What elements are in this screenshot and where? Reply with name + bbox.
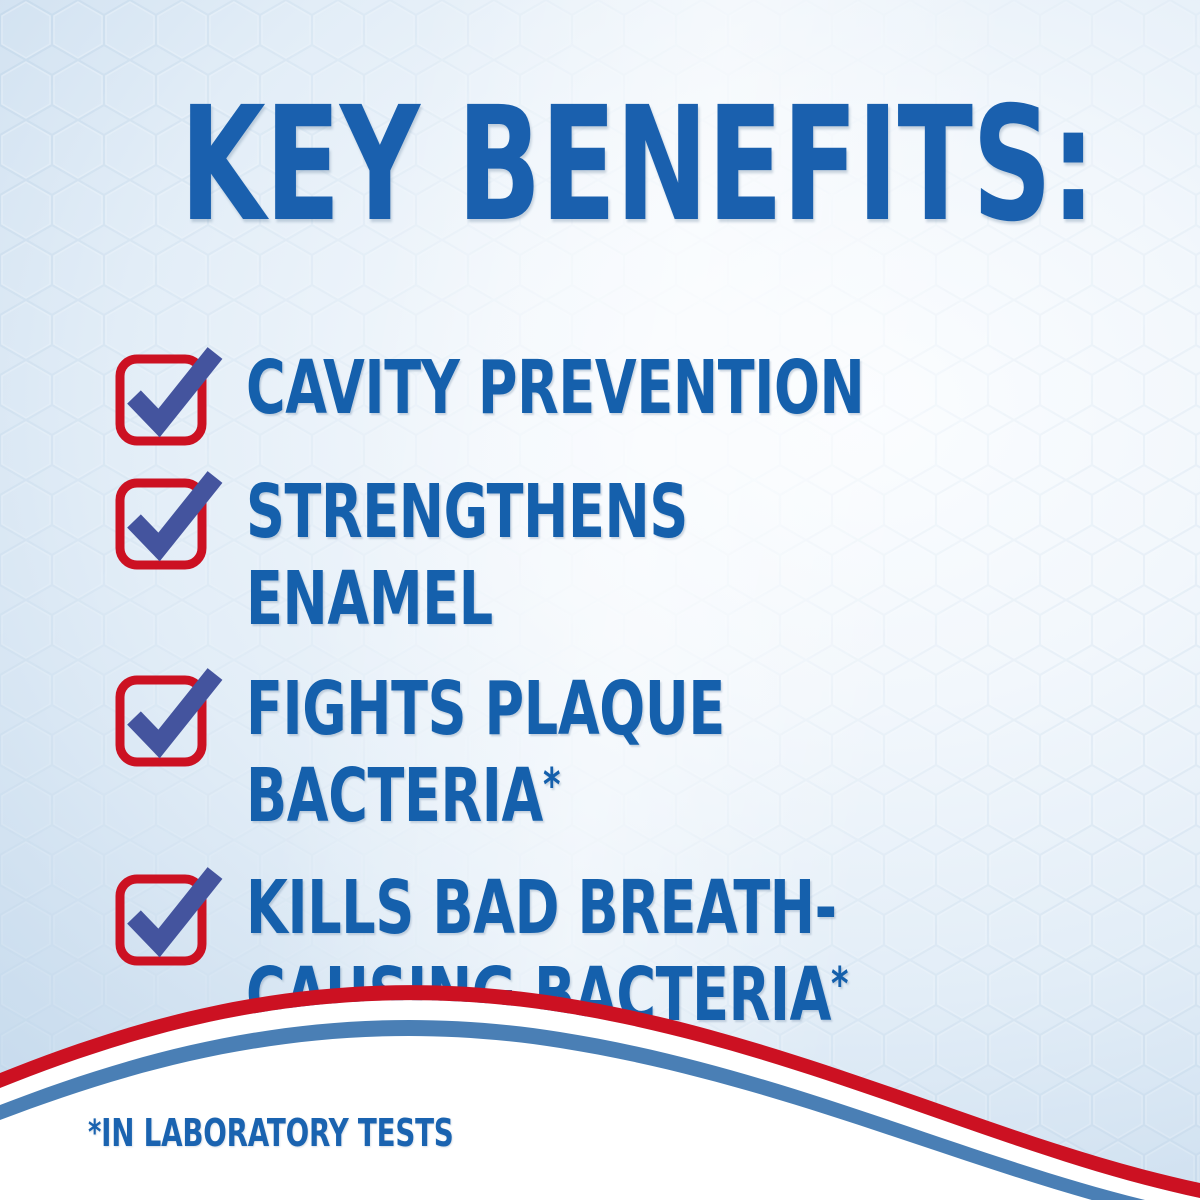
footnote: *IN LABORATORY TESTS [88, 1114, 454, 1152]
asterisk-marker: * [88, 1113, 101, 1153]
poster-content: KEY BENEFITS: CAVITY PREVENTION [0, 0, 1200, 1200]
key-benefits-poster: KEY BENEFITS: CAVITY PREVENTION [0, 0, 1200, 1200]
benefit-label: FIGHTS PLAQUE BACTERIA* [246, 666, 922, 839]
wave-divider [0, 940, 1200, 1200]
list-item: FIGHTS PLAQUE BACTERIA* [112, 666, 1172, 839]
checkbox-checked-icon [112, 347, 224, 451]
asterisk-marker: * [543, 758, 561, 812]
list-item: CAVITY PREVENTION [112, 345, 1172, 451]
benefit-label: STRENGTHENS ENAMEL [246, 469, 922, 642]
benefit-label: CAVITY PREVENTION [246, 345, 922, 432]
checkbox-checked-icon [112, 668, 224, 772]
checkbox-checked-icon [112, 471, 224, 575]
list-item: STRENGTHENS ENAMEL [112, 469, 1172, 642]
page-title: KEY BENEFITS: [180, 86, 1020, 244]
